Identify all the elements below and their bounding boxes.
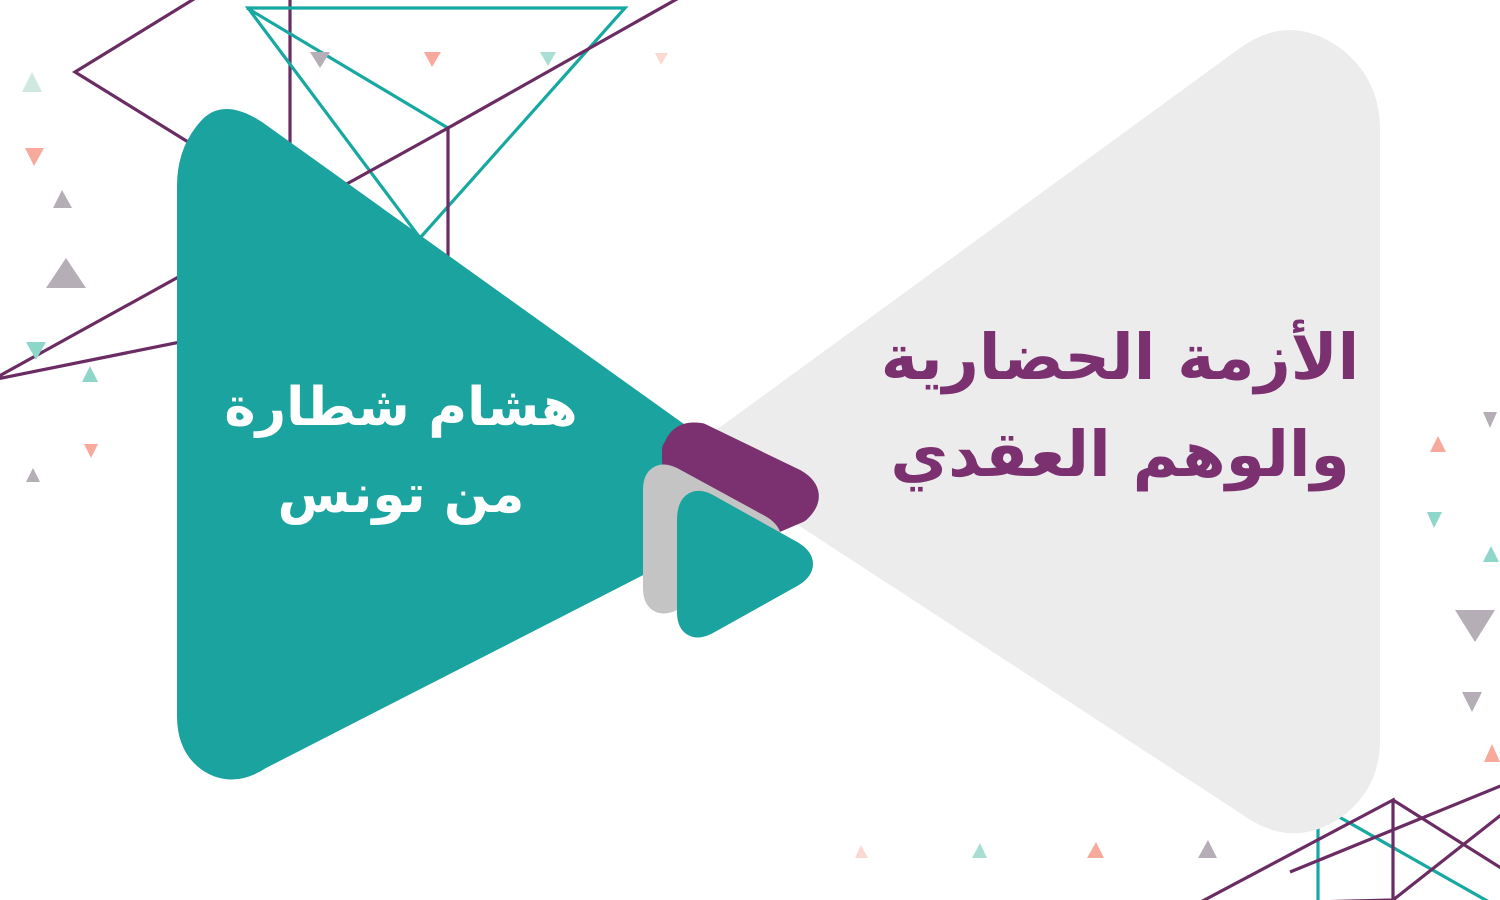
lecture-title: الأزمة الحضارية والوهم العقدي: [860, 312, 1380, 501]
text-layer: الأزمة الحضارية والوهم العقدي هشام شطارة…: [0, 0, 1500, 900]
speaker-origin: من تونس: [186, 457, 616, 534]
speaker-info: هشام شطارة من تونس: [186, 370, 616, 534]
slide-canvas: الأزمة الحضارية والوهم العقدي هشام شطارة…: [0, 0, 1500, 900]
title-line-1: الأزمة الحضارية: [860, 312, 1380, 403]
speaker-name: هشام شطارة: [186, 370, 616, 447]
title-line-2: والوهم العقدي: [860, 409, 1380, 500]
